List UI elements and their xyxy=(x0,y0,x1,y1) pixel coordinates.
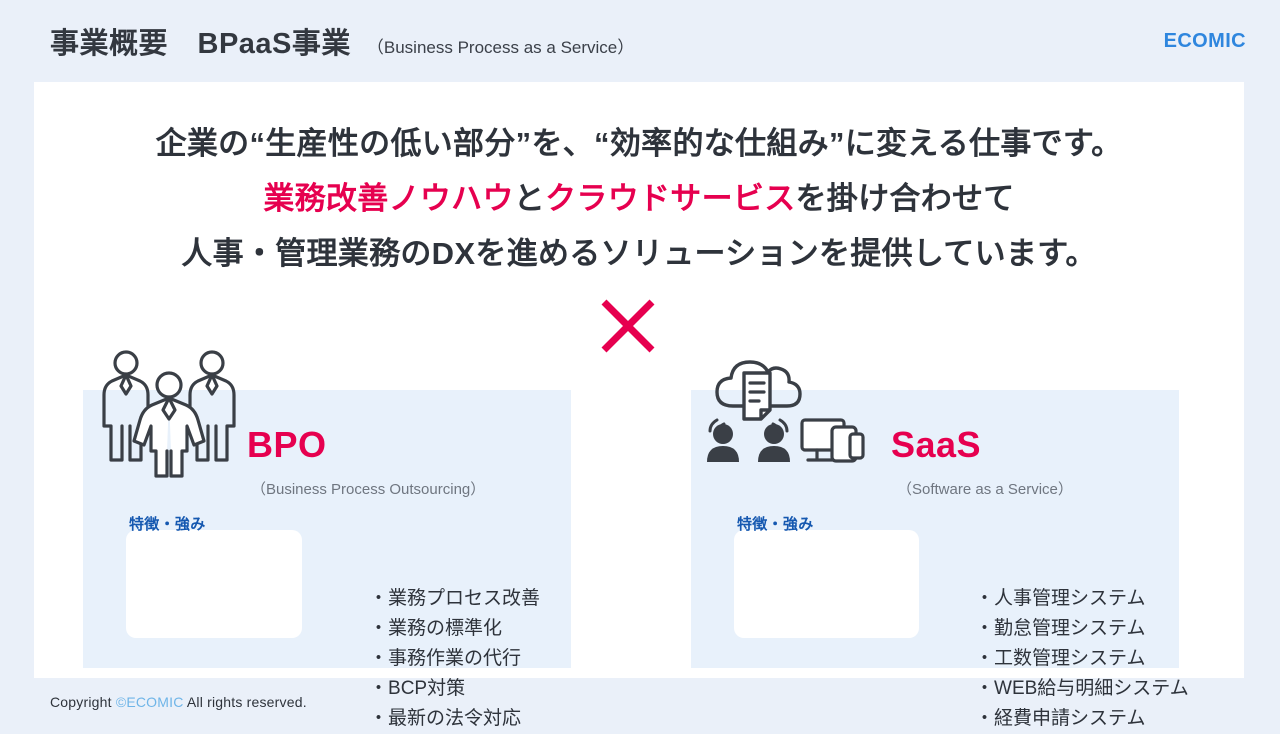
copyright-footer: Copyright ©ECOMIC All rights reserved. xyxy=(50,694,307,710)
panel-subtitle-bpo: （Business Process Outsourcing） xyxy=(251,478,485,499)
lead-line-3: 人事・管理業務のDXを進めるソリューションを提供しています。 xyxy=(34,226,1244,281)
lead-line-2-tail: を掛け合わせて xyxy=(796,181,1015,216)
multiply-icon xyxy=(596,294,660,358)
bullet-list-saas: 人事管理システム 勤怠管理システム 工数管理システム WEB給与明細システム 経… xyxy=(975,584,1189,734)
list-item: 経費申請システム xyxy=(975,704,1189,734)
page-title: 事業概要 BPaaS事業 xyxy=(50,20,351,62)
copyright-brand: ©ECOMIC xyxy=(116,694,184,710)
panel-title-saas: SaaS xyxy=(891,424,981,466)
panel-head-bpo: BPO （Business Process Outsourcing） xyxy=(83,400,571,500)
list-item: 事務作業の代行 xyxy=(369,644,540,674)
bullet-list-bpo: 業務プロセス改善 業務の標準化 事務作業の代行 BCP対策 最新の法令対応 xyxy=(369,584,540,734)
panel-title-bpo: BPO xyxy=(247,424,327,466)
content-card: 企業の“生産性の低い部分”を、“効率的な仕組み”に変える仕事です。 業務改善ノウ… xyxy=(34,82,1244,678)
title-group: 事業概要 BPaaS事業 （Business Process as a Serv… xyxy=(50,20,634,62)
lead-line-2: 業務改善ノウハウとクラウドサービスを掛け合わせて xyxy=(34,171,1244,226)
feature-label-saas: 特徴・強み xyxy=(737,513,814,534)
list-item: 業務の標準化 xyxy=(369,614,540,644)
feature-box-saas xyxy=(734,530,919,638)
list-item: 最新の法令対応 xyxy=(369,704,540,734)
feature-label-bpo: 特徴・強み xyxy=(129,513,206,534)
panel-head-saas: SaaS （Software as a Service） xyxy=(691,400,1179,500)
copyright-prefix: Copyright xyxy=(50,694,116,710)
list-item: WEB給与明細システム xyxy=(975,674,1189,704)
list-item: 工数管理システム xyxy=(975,644,1189,674)
page-title-subtitle: （Business Process as a Service） xyxy=(367,33,634,58)
panel-subtitle-saas: （Software as a Service） xyxy=(897,478,1073,499)
feature-box-bpo xyxy=(126,530,302,638)
copyright-suffix: All rights reserved. xyxy=(184,694,307,710)
list-item: 業務プロセス改善 xyxy=(369,584,540,614)
lead-conjunction: と xyxy=(514,181,545,216)
lead-highlight-saas: クラウドサービス xyxy=(545,181,795,216)
service-panel-bpo: BPO （Business Process Outsourcing） 特徴・強み… xyxy=(83,390,571,668)
ecomic-logo: ECOMIC xyxy=(1164,30,1246,53)
lead-highlight-bpo: 業務改善ノウハウ xyxy=(263,181,513,216)
service-panel-saas: SaaS （Software as a Service） 特徴・強み お客様のニ… xyxy=(691,390,1179,668)
list-item: BCP対策 xyxy=(369,674,540,704)
list-item: 勤怠管理システム xyxy=(975,614,1189,644)
lead-line-1: 企業の“生産性の低い部分”を、“効率的な仕組み”に変える仕事です。 xyxy=(34,116,1244,171)
list-item: 人事管理システム xyxy=(975,584,1189,614)
slide-header: 事業概要 BPaaS事業 （Business Process as a Serv… xyxy=(0,0,1280,82)
lead-copy: 企業の“生産性の低い部分”を、“効率的な仕組み”に変える仕事です。 業務改善ノウ… xyxy=(34,116,1244,281)
